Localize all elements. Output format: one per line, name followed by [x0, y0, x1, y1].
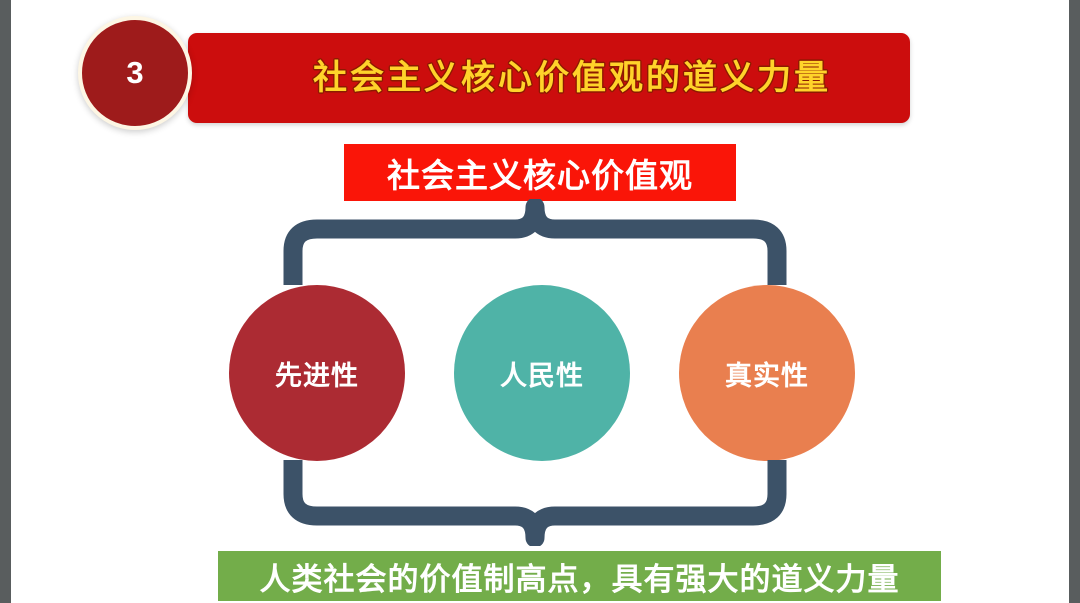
core-value-box: 社会主义核心价值观	[344, 144, 736, 201]
curly-brace-up-icon	[283, 458, 787, 546]
section-number-badge: 3	[78, 16, 192, 130]
bubble-people-oriented[interactable]: 人民性	[454, 285, 630, 461]
slide-canvas: 社会主义核心价值观的道义力量 3 社会主义核心价值观 先进性 人民性 真实性 人…	[0, 0, 1080, 603]
conclusion-label: 人类社会的价值制高点，具有强大的道义力量	[260, 554, 900, 599]
core-value-label: 社会主义核心价值观	[387, 149, 693, 197]
bubble-label: 人民性	[500, 354, 584, 393]
bubble-advancement[interactable]: 先进性	[229, 285, 405, 461]
frame-edge-left	[0, 0, 11, 603]
bubble-label: 先进性	[275, 354, 359, 393]
bubble-authenticity[interactable]: 真实性	[679, 285, 855, 461]
header-title: 社会主义核心价值观的道义力量	[188, 33, 910, 123]
curly-brace-down-icon	[283, 199, 787, 287]
conclusion-banner: 人类社会的价值制高点，具有强大的道义力量	[218, 551, 941, 601]
bubble-label: 真实性	[725, 354, 809, 393]
section-number-label: 3	[126, 55, 143, 91]
frame-edge-right	[1069, 0, 1080, 603]
header-banner: 社会主义核心价值观的道义力量	[188, 33, 910, 123]
